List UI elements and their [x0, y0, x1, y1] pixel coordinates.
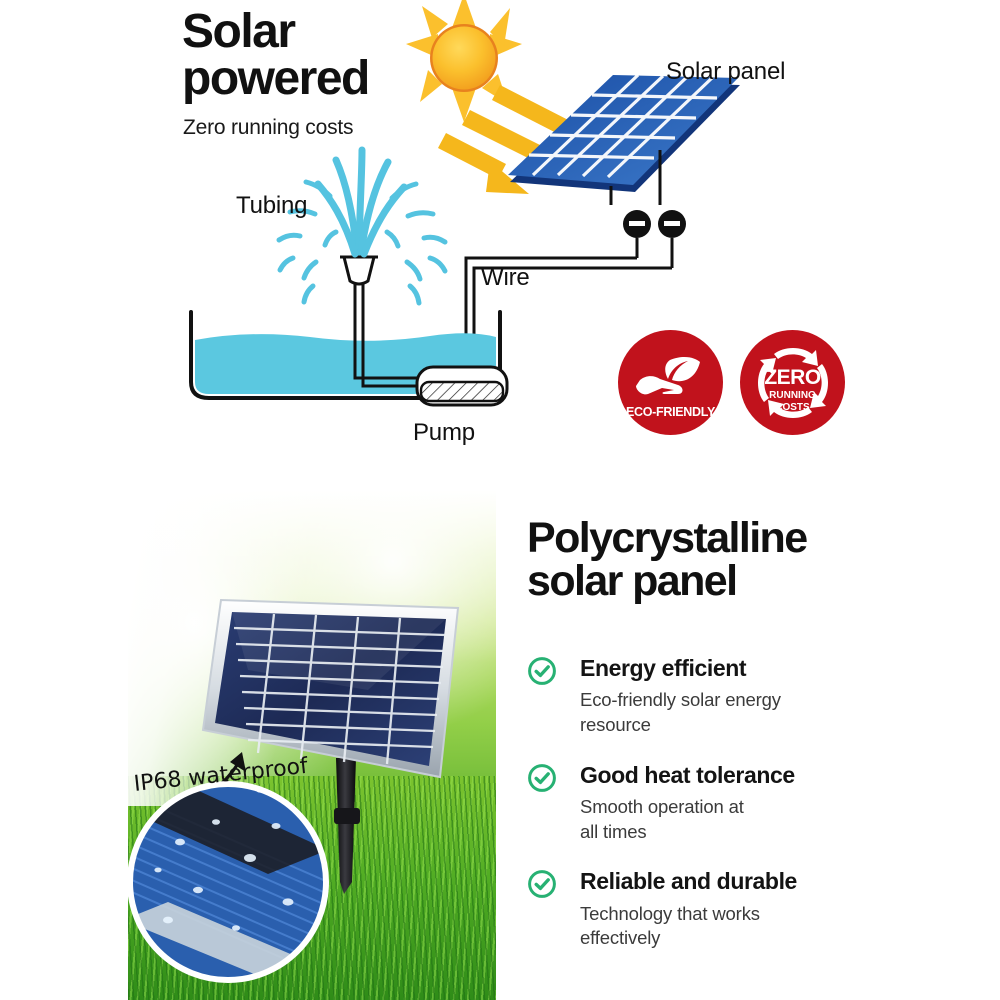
- product-photo: IP68 waterproof: [128, 490, 496, 1000]
- check-circle-icon: [527, 869, 557, 899]
- badge-zero-line3: COSTS: [740, 402, 845, 413]
- section-title-line-2: solar panel: [527, 557, 736, 605]
- feature-item: Good heat tolerance Smooth operation at …: [527, 762, 947, 845]
- feature-item: Energy efficient Eco-friendly solar ener…: [527, 655, 947, 738]
- label-wire: Wire: [481, 264, 530, 292]
- badge-zero-line1: ZERO: [740, 366, 845, 390]
- feature-badges: ECO-FRIENDLY ZERO RUNNING COSTS: [618, 330, 858, 438]
- feature-title: Reliable and durable: [580, 868, 947, 894]
- label-tubing: Tubing: [236, 192, 307, 220]
- top-section: Solar powered Zero running costs: [0, 0, 1000, 490]
- badge-eco-friendly: ECO-FRIENDLY: [618, 330, 723, 435]
- bottom-section: IP68 waterproof Polycrystalline solar pa…: [0, 490, 1000, 1000]
- feature-description: Eco-friendly solar energy resource: [580, 688, 947, 737]
- feature-title: Good heat tolerance: [580, 762, 947, 788]
- hand-leaf-icon: [618, 330, 723, 435]
- label-pump: Pump: [413, 419, 475, 447]
- label-solar-panel: Solar panel: [666, 58, 785, 86]
- feature-title: Energy efficient: [580, 655, 947, 681]
- feature-item: Reliable and durable Technology that wor…: [527, 868, 947, 951]
- solar-panel-graphic: [508, 75, 740, 192]
- badge-zero-running-costs: ZERO RUNNING COSTS: [740, 330, 845, 435]
- feature-list: Energy efficient Eco-friendly solar ener…: [527, 655, 947, 975]
- feature-description: Smooth operation at all times: [580, 795, 947, 844]
- fountain-nozzle: [340, 257, 378, 284]
- section-title-line-1: Polycrystalline: [527, 514, 807, 562]
- solar-panel-product-image: [128, 490, 496, 1000]
- check-circle-icon: [527, 763, 557, 793]
- infographic-page: Solar powered Zero running costs: [0, 0, 1000, 1000]
- check-circle-icon: [527, 656, 557, 686]
- section-title: Polycrystalline solar panel: [527, 517, 927, 603]
- pump-graphic: [417, 367, 507, 405]
- feature-description: Technology that works effectively: [580, 902, 947, 951]
- badge-eco-label: ECO-FRIENDLY: [618, 405, 723, 419]
- badge-zero-line2: RUNNING: [740, 390, 845, 401]
